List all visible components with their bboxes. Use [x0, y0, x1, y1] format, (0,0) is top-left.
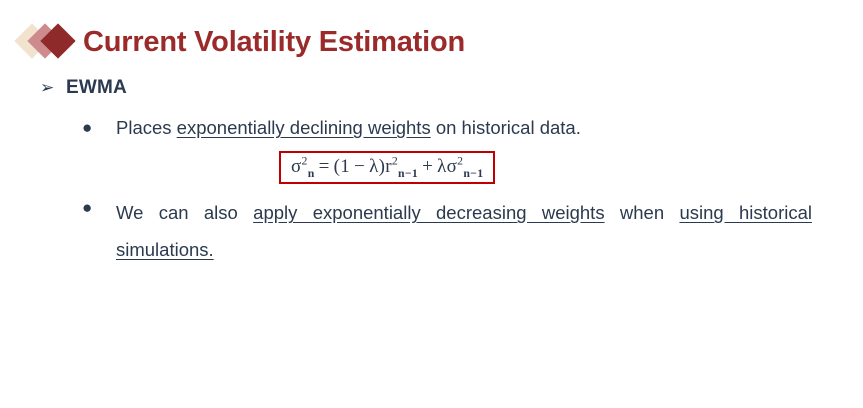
formula-one: 1: [340, 156, 350, 177]
bullet-level1-label: EWMA: [66, 76, 127, 100]
ewma-formula: σ2n=(1−λ)r2n−1+λσ2n−1: [291, 156, 483, 178]
formula-r: r: [385, 156, 392, 177]
formula-sigma-lhs-subscript: n: [308, 166, 315, 179]
segment-plain-2c: when: [605, 202, 680, 223]
arrow-bullet-icon: ➢: [40, 76, 66, 100]
formula-r-subscript: n−1: [398, 166, 418, 179]
formula-minus: −: [350, 156, 369, 177]
dot-bullet-icon: ●: [82, 114, 116, 142]
formula-equals: =: [315, 156, 334, 177]
formula-box: σ2n=(1−λ)r2n−1+λσ2n−1: [279, 151, 495, 184]
title-row: Current Volatility Estimation: [0, 12, 863, 68]
formula-sigma-lhs-exponent: 2: [302, 154, 308, 167]
segment-plain-2a: We can also: [116, 202, 253, 223]
formula-lambda-2: λ: [437, 156, 447, 177]
formula-plus: +: [418, 156, 437, 177]
segment-plain-1a: Places: [116, 117, 177, 138]
formula-lambda-1: λ: [369, 156, 379, 177]
page-title: Current Volatility Estimation: [83, 24, 465, 60]
bullet-level2-text-2: We can also apply exponentially decreasi…: [116, 194, 812, 268]
formula-sigma-rhs-subscript: n−1: [463, 166, 483, 179]
segment-underlined-2b: apply exponentially decreasing weights: [253, 202, 604, 223]
dot-bullet-icon: ●: [82, 194, 116, 222]
three-diamonds-logo: [14, 22, 76, 64]
bullet-level2-item-1: ● Places exponentially declining weights…: [82, 114, 812, 142]
formula-sigma-rhs: σ: [447, 156, 458, 177]
formula-sigma-lhs: σ: [291, 156, 302, 177]
segment-underlined-1b: exponentially declining weights: [177, 117, 431, 138]
segment-plain-1c: on historical data.: [431, 117, 581, 138]
slide-canvas: Current Volatility Estimation ➢ EWMA ● P…: [0, 0, 863, 408]
bullet-level2-item-2: ● We can also apply exponentially decrea…: [82, 194, 812, 268]
bullet-level2-text-1: Places exponentially declining weights o…: [116, 114, 812, 142]
bullet-level1-ewma: ➢ EWMA: [40, 76, 127, 100]
